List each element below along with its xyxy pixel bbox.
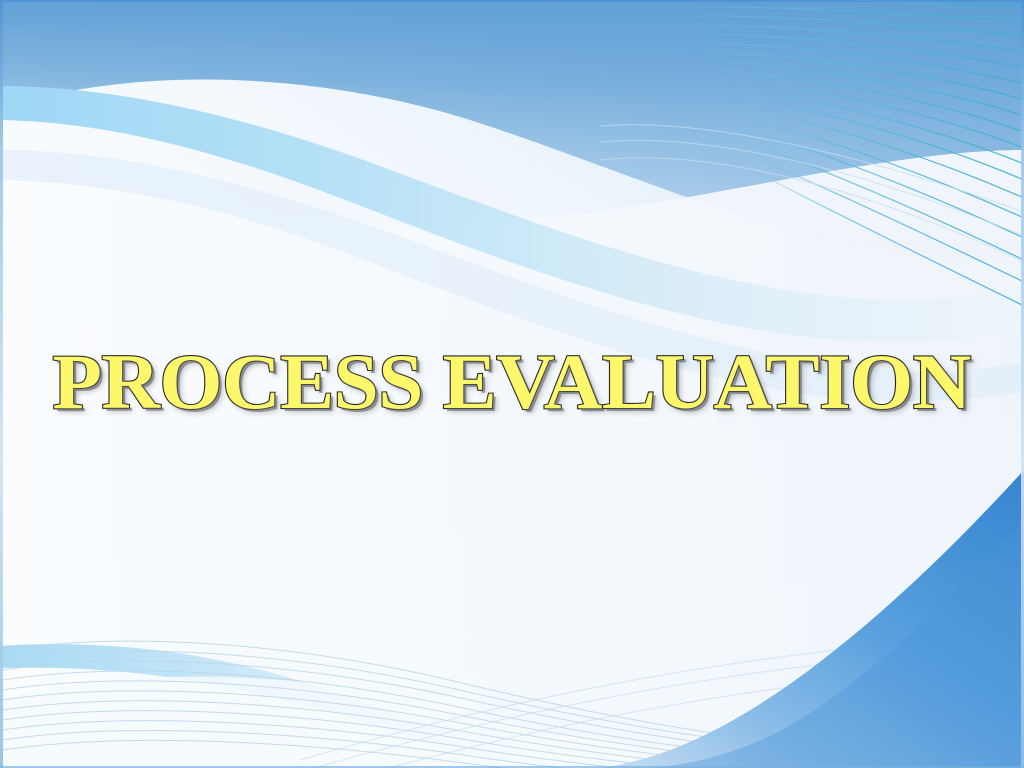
top-edge-blue-hairline bbox=[0, 0, 1024, 2]
slide-background bbox=[0, 0, 1024, 768]
left-edge-blue-hairline bbox=[0, 0, 3, 768]
slide-canvas: PROCESS EVALUATION bbox=[0, 0, 1024, 768]
